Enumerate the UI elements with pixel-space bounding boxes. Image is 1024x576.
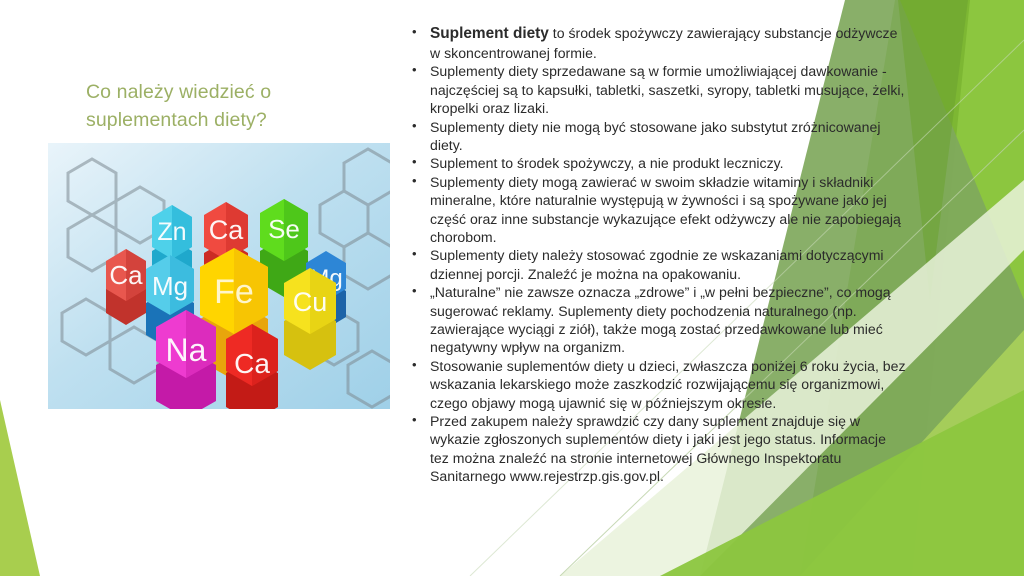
svg-text:Zn: Zn [157, 218, 186, 246]
presentation-slide: Co należy wiedzieć o suplementach diety? [0, 0, 1024, 576]
svg-text:Ca: Ca [234, 348, 270, 379]
bullet-text: Suplementy diety mogą zawierać w swoim s… [430, 173, 908, 247]
block-ca-left: Ca [106, 249, 146, 325]
decor-shape-bright-right [905, 0, 1024, 576]
list-item: • Suplementy diety należy stosować zgodn… [408, 246, 908, 283]
bullet-text: Suplementy diety sprzedawane są w formie… [430, 62, 908, 117]
bullet-text: „Naturalne” nie zawsze oznacza „zdrowe” … [430, 283, 908, 357]
list-item: • Suplementy diety nie mogą być stosowan… [408, 118, 908, 155]
bullet-lead-bold: Suplement diety [430, 25, 549, 42]
list-item: • Przed zakupem należy sprawdzić czy dan… [408, 412, 908, 486]
list-item: • Suplement to środek spożywczy, a nie p… [408, 154, 908, 172]
list-item: • Suplementy diety mogą zawierać w swoim… [408, 173, 908, 247]
decor-shape-dark-upper [898, 0, 968, 300]
bullet-marker: • [408, 357, 430, 374]
bullet-list: • Suplement diety to środek spożywczy za… [408, 24, 908, 485]
bullet-marker: • [408, 283, 430, 300]
bullet-marker: • [408, 118, 430, 135]
decor-shape-left-wedge [0, 400, 40, 576]
bullet-text: Suplementy diety należy stosować zgodnie… [430, 246, 908, 283]
list-item: • Suplementy diety sprzedawane są w form… [408, 62, 908, 117]
svg-text:Ca: Ca [209, 215, 244, 245]
bullet-marker: • [408, 173, 430, 190]
bullet-marker: • [408, 62, 430, 79]
bullet-marker: • [408, 154, 430, 171]
bullet-text: Stosowanie suplementów diety u dzieci, z… [430, 357, 908, 412]
svg-text:Se: Se [268, 214, 300, 244]
block-cu: Cu [284, 268, 336, 370]
bullet-marker: • [408, 24, 430, 41]
bullet-marker: • [408, 412, 430, 429]
mineral-hexagon-blocks-image: Ca Zn Ca Se [48, 143, 390, 409]
svg-text:Cu: Cu [293, 287, 328, 317]
bullet-marker: • [408, 246, 430, 263]
bullet-text: Przed zakupem należy sprawdzić czy dany … [430, 412, 908, 486]
svg-text:Mg: Mg [152, 271, 188, 301]
bullet-text: Suplementy diety nie mogą być stosowane … [430, 118, 908, 155]
list-item: • Suplement diety to środek spożywczy za… [408, 24, 908, 62]
bullet-text: Suplement diety to środek spożywczy zawi… [430, 24, 908, 62]
list-item: • Stosowanie suplementów diety u dzieci,… [408, 357, 908, 412]
page-title: Co należy wiedzieć o suplementach diety? [86, 78, 386, 135]
bullet-text: Suplement to środek spożywczy, a nie pro… [430, 154, 908, 172]
list-item: • „Naturalne” nie zawsze oznacza „zdrowe… [408, 283, 908, 357]
hexagon-blocks-illustration: Ca Zn Ca Se [48, 143, 390, 409]
svg-text:Fe: Fe [214, 273, 254, 311]
block-na: Na [156, 310, 216, 409]
svg-text:Na: Na [166, 332, 207, 368]
block-ca-bottom: Ca [226, 324, 278, 409]
svg-text:Ca: Ca [109, 260, 143, 290]
